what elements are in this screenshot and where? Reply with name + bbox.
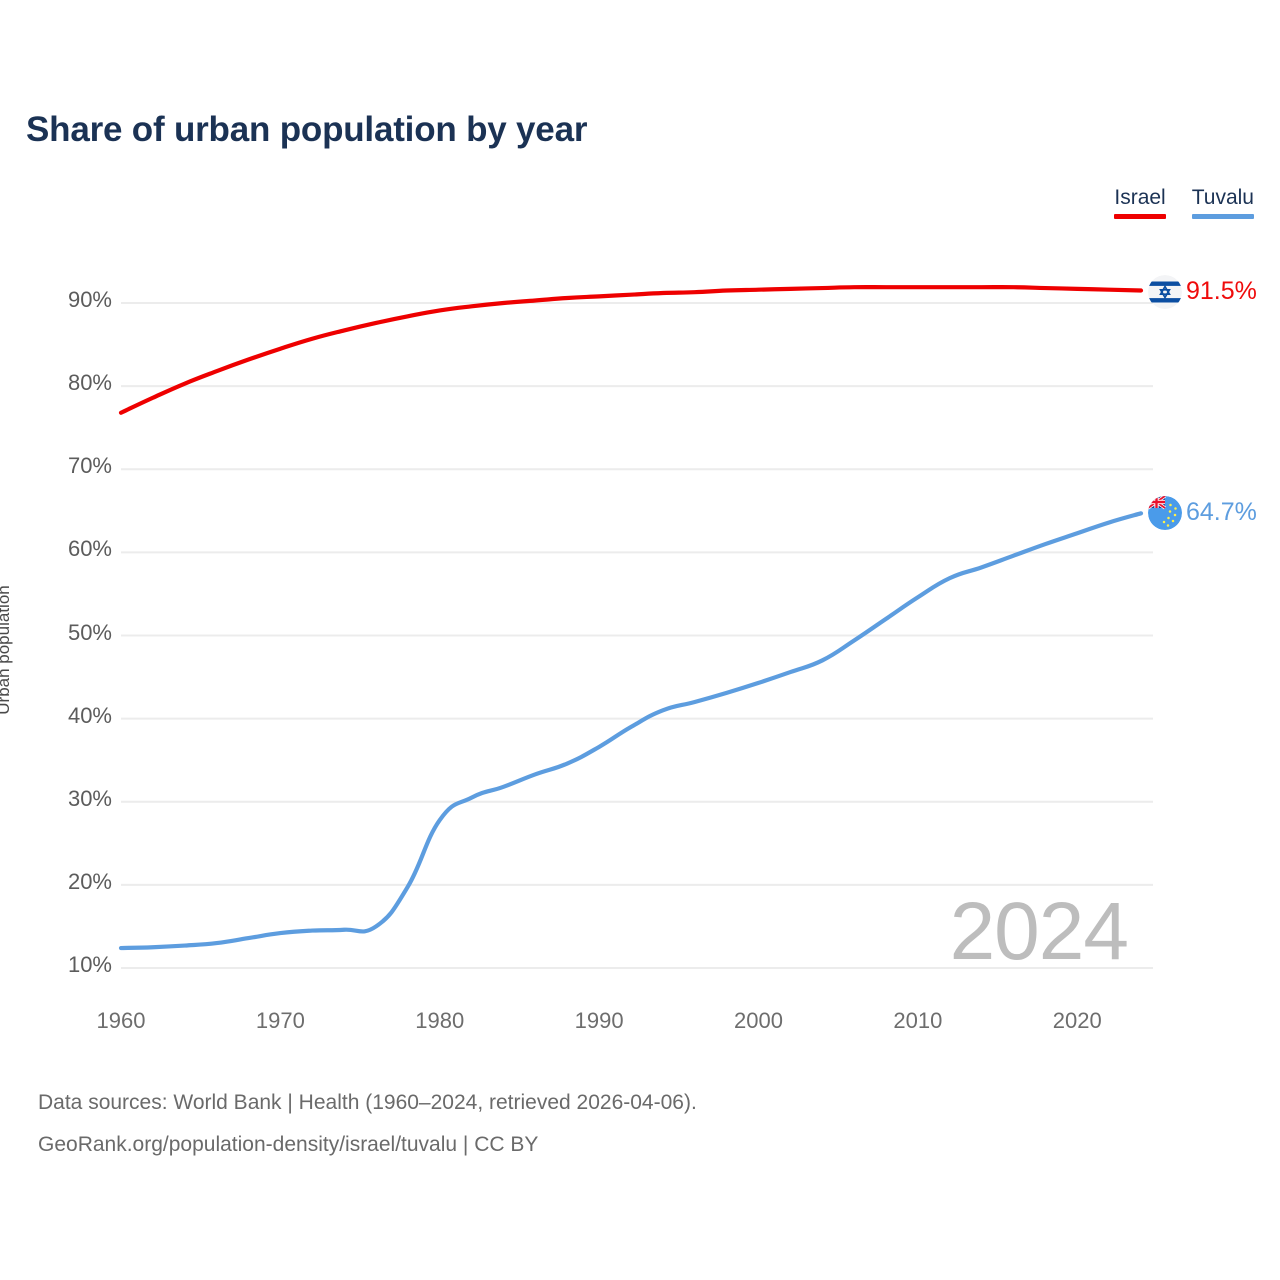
y-tick-label: 90% xyxy=(22,287,112,313)
israel-end-value: 91.5% xyxy=(1186,277,1257,306)
tuvalu-flag-icon xyxy=(1148,496,1182,530)
y-tick-label: 30% xyxy=(22,786,112,812)
footer-line-url: GeoRank.org/population-density/israel/tu… xyxy=(38,1124,697,1166)
footer-credits: Data sources: World Bank | Health (1960–… xyxy=(38,1082,697,1166)
y-tick-label: 10% xyxy=(22,952,112,978)
y-tick-label: 70% xyxy=(22,453,112,479)
series-line-tuvalu xyxy=(121,513,1141,948)
y-tick-label: 50% xyxy=(22,620,112,646)
tuvalu-end-value: 64.7% xyxy=(1186,498,1257,527)
y-tick-label: 40% xyxy=(22,703,112,729)
x-tick-label: 2020 xyxy=(1017,1008,1137,1034)
x-tick-label: 1970 xyxy=(220,1008,340,1034)
footer-line-sources: Data sources: World Bank | Health (1960–… xyxy=(38,1082,697,1124)
y-tick-label: 60% xyxy=(22,536,112,562)
x-tick-label: 1960 xyxy=(61,1008,181,1034)
series-line-israel xyxy=(121,287,1141,413)
y-tick-label: 20% xyxy=(22,869,112,895)
y-tick-label: 80% xyxy=(22,370,112,396)
x-tick-label: 1980 xyxy=(380,1008,500,1034)
x-tick-label: 1990 xyxy=(539,1008,659,1034)
y-axis-label: Urban population xyxy=(0,520,14,780)
x-tick-label: 2010 xyxy=(858,1008,978,1034)
x-tick-label: 2000 xyxy=(699,1008,819,1034)
chart-page: Share of urban population by year Israel… xyxy=(0,0,1280,1280)
year-watermark: 2024 xyxy=(950,885,1128,979)
israel-flag-icon xyxy=(1148,275,1182,309)
